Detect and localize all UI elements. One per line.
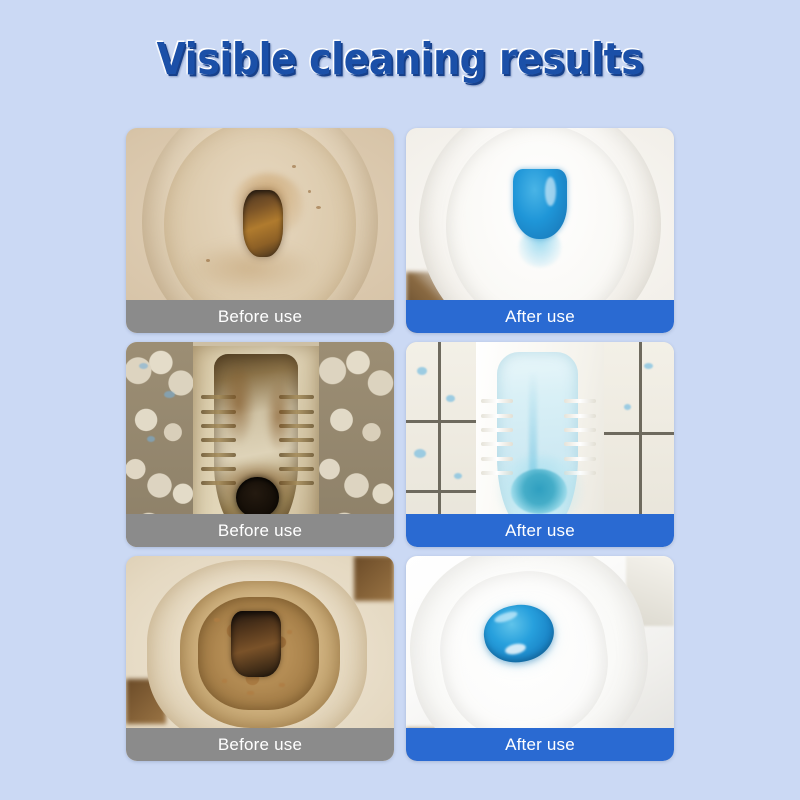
scale-flake-shape [247,691,254,695]
scale-flake-shape [287,630,292,634]
label-before-3: Before use [126,728,394,761]
scale-flake-shape [214,618,220,622]
pan-rib-shape [481,457,513,461]
pan-rib-shape [481,414,513,418]
comparison-card-before-2[interactable]: Before use [126,342,394,547]
comparison-card-after-3[interactable]: After use [406,556,674,761]
rust-stain-shape [265,379,292,453]
tile-accent-shape [644,363,653,369]
drain-hole-shape [236,477,279,518]
pan-rib-shape [481,399,513,403]
comparison-card-after-1[interactable]: After use [406,128,674,333]
background-edge-shape [354,556,394,601]
label-after-1: After use [406,300,674,333]
tile-accent-shape [624,404,631,410]
pan-rib-shape [564,399,596,403]
page-title: Visible cleaning results [157,34,644,85]
label-before-1: Before use [126,300,394,333]
label-after-2: After use [406,514,674,547]
pan-rib-shape [481,442,513,446]
drain-hole-shape [243,190,283,258]
speck-shape [292,165,296,168]
gel-highlight-shape [545,177,556,206]
pan-rib-shape [564,457,596,461]
tile-accent-shape [139,363,148,369]
pan-rib-shape [564,414,596,418]
blue-cleaner-gel-shape [513,169,567,239]
label-before-2: Before use [126,514,394,547]
before-after-grid: Before use After use [126,128,674,761]
rust-stain-shape [222,363,254,445]
tile-accent-shape [414,449,426,458]
pan-rib-shape [564,428,596,432]
tile-accent-shape [164,391,175,398]
pan-rib-shape [564,442,596,446]
product-comparison-page: Visible cleaning results Before use [0,0,800,800]
tile-accent-shape [417,367,427,375]
scale-flake-shape [279,683,285,687]
comparison-card-after-2[interactable]: After use [406,342,674,547]
pan-rib-shape [279,453,314,457]
comparison-card-before-3[interactable]: Before use [126,556,394,761]
comparison-card-before-1[interactable]: Before use [126,128,394,333]
blue-cleaner-foam-shape [511,469,567,514]
label-after-3: After use [406,728,674,761]
pan-rib-shape [201,453,236,457]
page-title-container: Visible cleaning results [0,24,800,94]
pan-rib-shape [481,428,513,432]
speck-shape [308,190,311,193]
drain-hole-shape [231,611,282,677]
